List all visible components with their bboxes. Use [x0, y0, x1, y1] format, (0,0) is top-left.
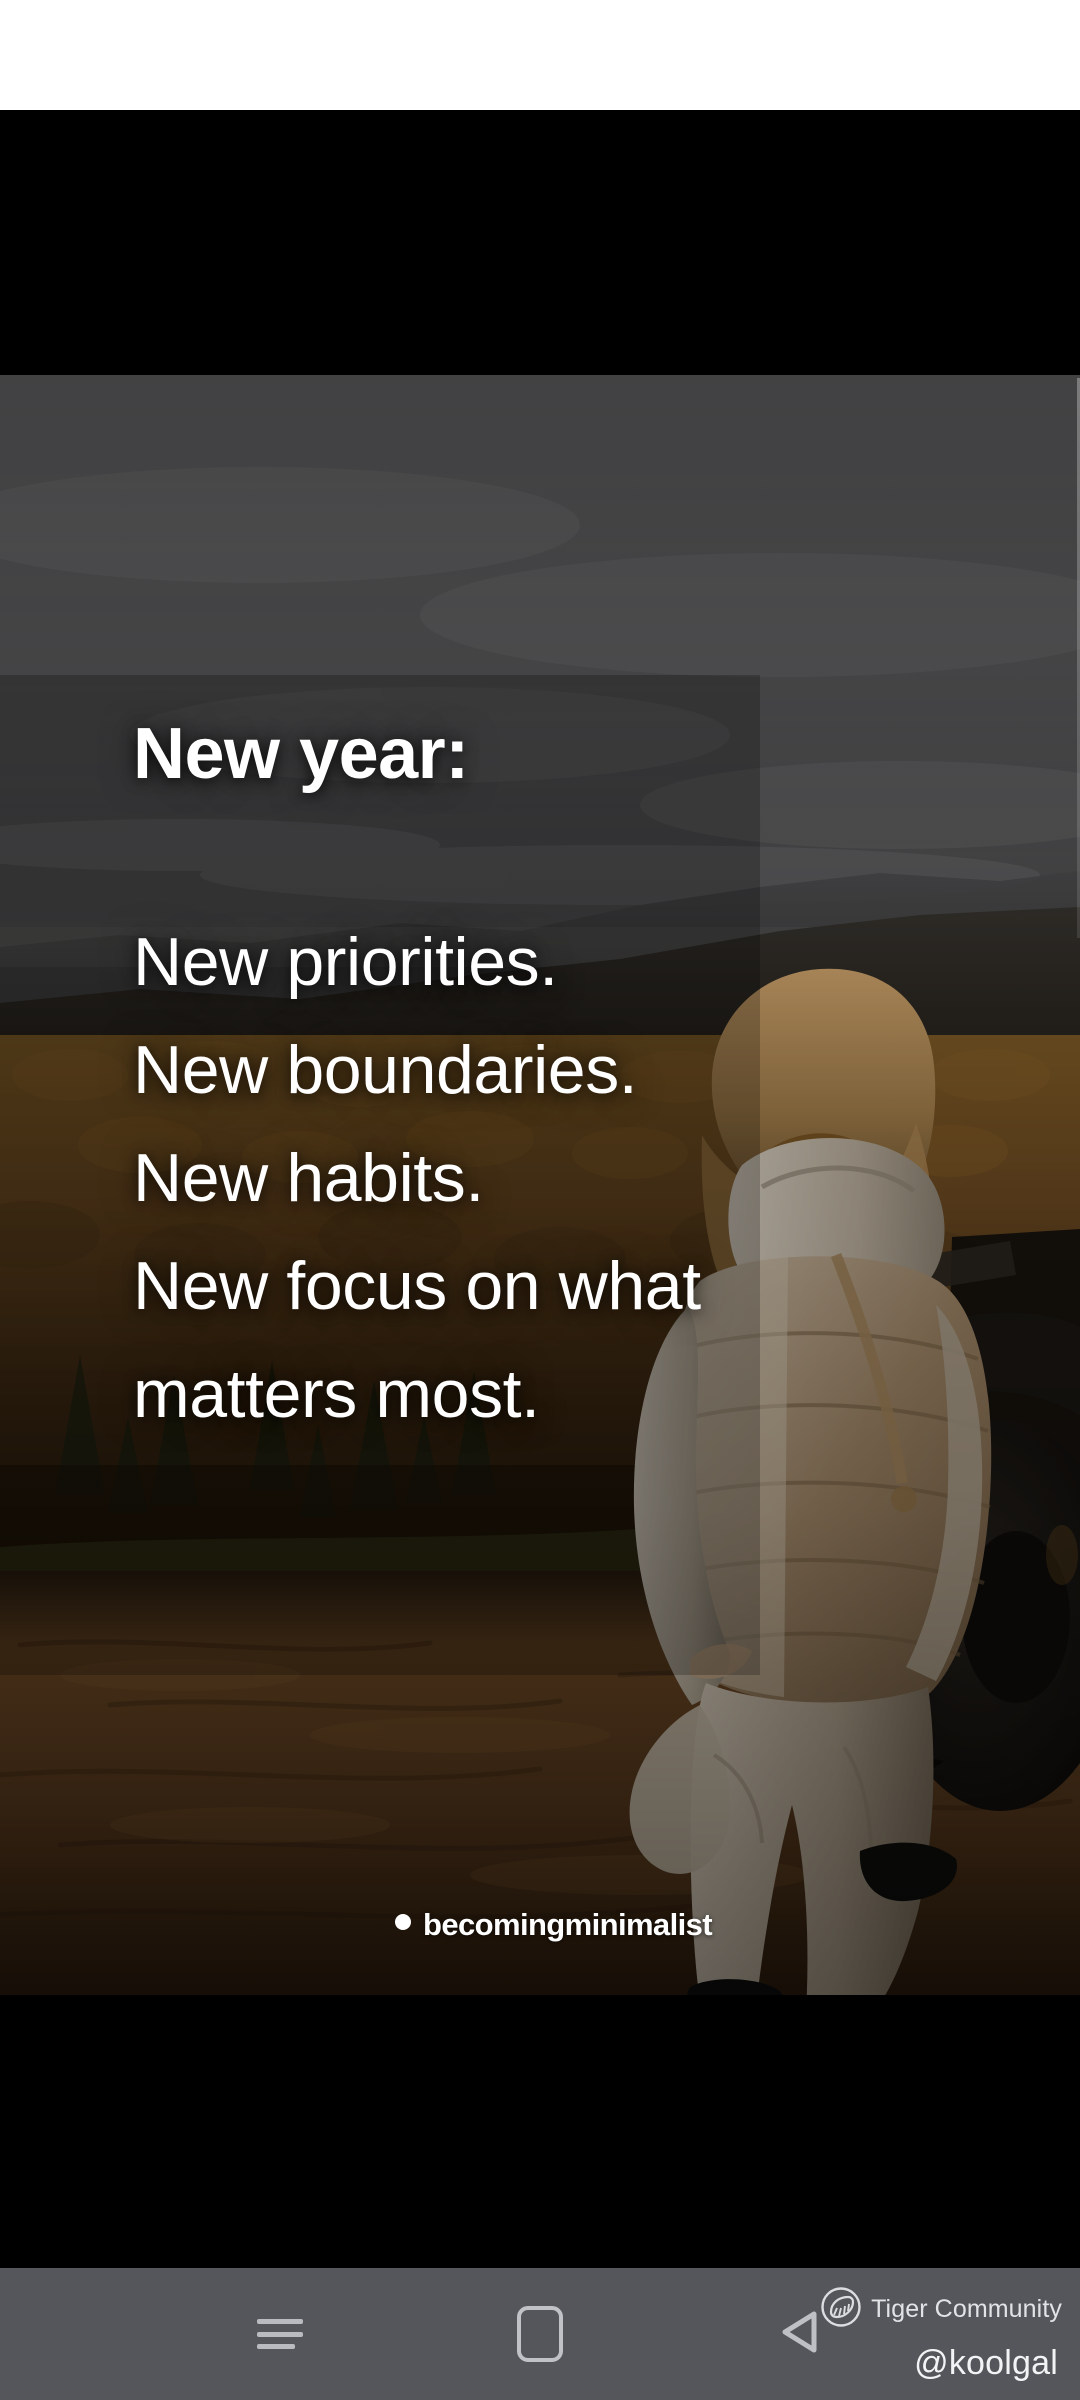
- letterbox-top: [0, 110, 1080, 375]
- quote-line-5: matters most.: [133, 1340, 983, 1448]
- tiger-community-handle: @koolgal: [820, 2346, 1058, 2380]
- hamburger-icon: [257, 2319, 303, 2349]
- brand-watermark-label: becomingminimalist: [423, 1909, 712, 1940]
- screen: New year: New priorities. New boundaries…: [0, 0, 1080, 2400]
- tiger-community-watermark: Tiger Community @koolgal: [820, 2286, 1062, 2380]
- quote-line-3: New habits.: [133, 1124, 983, 1232]
- top-white-strip: [0, 0, 1080, 110]
- home-square-icon: [517, 2306, 563, 2362]
- back-triangle-icon: [776, 2307, 824, 2362]
- brand-watermark: becomingminimalist: [0, 1906, 1080, 1943]
- crescent-dot-logo-icon: [368, 1906, 412, 1943]
- quote-text-block: New year: New priorities. New boundaries…: [133, 718, 983, 1448]
- tiger-paw-logo-icon: [820, 2286, 862, 2333]
- recents-button[interactable]: [200, 2268, 360, 2400]
- letterbox-bottom: [0, 1995, 1080, 2268]
- quote-line-1: New priorities.: [133, 908, 983, 1016]
- quote-headline: New year:: [133, 718, 983, 790]
- tiger-community-label: Tiger Community: [871, 2297, 1062, 2322]
- quote-line-4: New focus on what: [133, 1232, 983, 1340]
- home-button[interactable]: [460, 2268, 620, 2400]
- quote-line-2: New boundaries.: [133, 1016, 983, 1124]
- tiger-community-row: Tiger Community: [820, 2286, 1062, 2333]
